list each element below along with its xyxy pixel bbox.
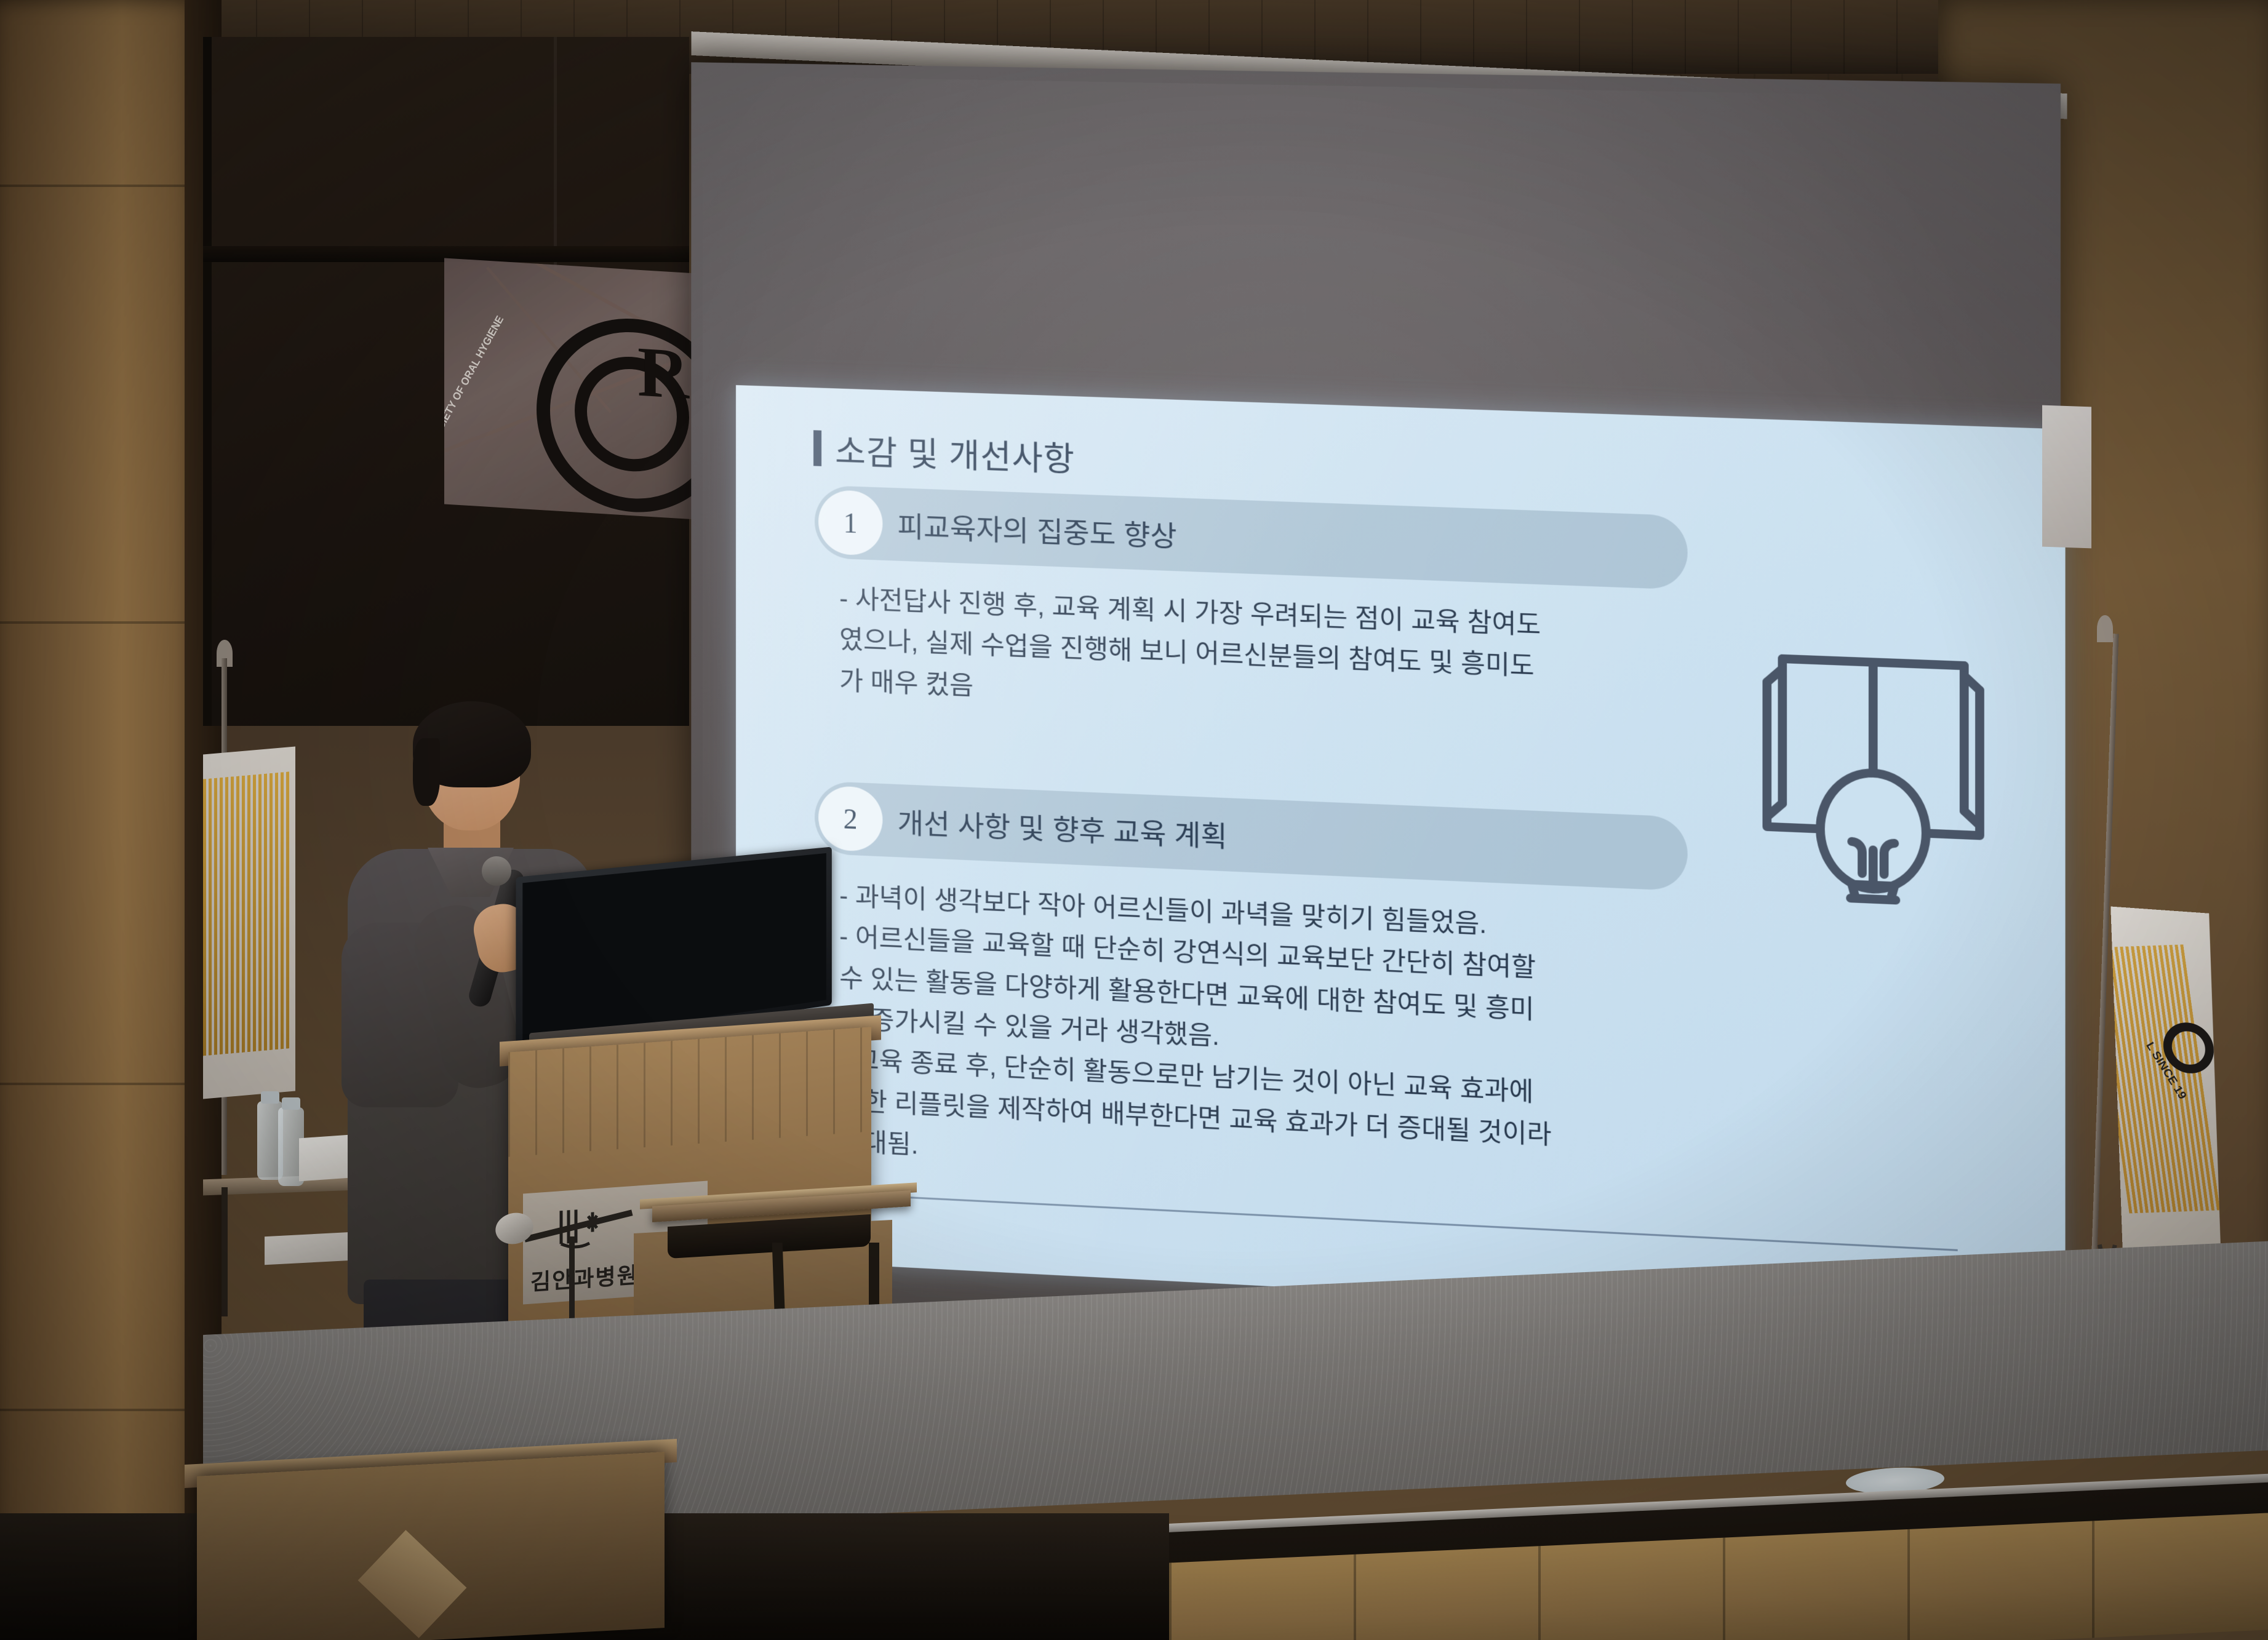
- projected-slide: 소감 및 개선사항 1 피교육자의 집중도 향상 - 사전답사 진행 후, 교육…: [736, 385, 2066, 1328]
- open-book-lightbulb-icon: [1754, 637, 1993, 912]
- emblem-english-label: KOREAN SOCIETY OF ORAL HYGIENE: [444, 314, 506, 485]
- section-1-number: 1: [818, 490, 882, 556]
- left-wood-wall: [0, 0, 203, 1640]
- section-2-number: 2: [818, 786, 882, 853]
- oral-hygiene-society-banner: R KOREAN SOCIETY OF ORAL HYGIENE 대한구강위생: [444, 258, 697, 519]
- slide-title-group: 소감 및 개선사항: [813, 423, 1075, 481]
- auditorium-scene: R KOREAN SOCIETY OF ORAL HYGIENE 대한구강위생 …: [0, 0, 2268, 1640]
- right-flag-pole-tip: [2097, 615, 2113, 642]
- slide-title: 소감 및 개선사항: [835, 424, 1075, 481]
- section-2-heading: 개선 사항 및 향후 교육 계획: [898, 800, 1228, 855]
- section-1-heading: 피교육자의 집중도 향상: [898, 504, 1177, 555]
- section-1-body: - 사전답사 진행 후, 교육 계획 시 가장 우려되는 점이 교육 참여도 였…: [839, 578, 1720, 736]
- alcove-edge: [203, 37, 212, 726]
- alcove-panel-line: [554, 37, 557, 271]
- right-ceremonial-flag: L SINCE 19: [2110, 907, 2221, 1259]
- section-2-pill: 2 개선 사항 및 향후 교육 계획: [815, 781, 1688, 891]
- left-ceremonial-flag: [203, 746, 295, 1099]
- section-1-pill: 1 피교육자의 집중도 향상: [815, 485, 1688, 590]
- society-emblem-text-ring: KOREAN SOCIETY OF ORAL HYGIENE 대한구강위생: [537, 313, 697, 490]
- presenter-hair-side: [413, 738, 440, 806]
- wall-paper-sheet: [2042, 405, 2091, 549]
- back-table-leg-1: [222, 1187, 228, 1316]
- section-2-body: - 과녁이 생각보다 작아 어르신들이 과녁을 맞히기 힘들었음. - 어르신들…: [839, 875, 1720, 1206]
- title-accent-bar: [813, 430, 821, 466]
- slide-footer-rule: [815, 1192, 1958, 1251]
